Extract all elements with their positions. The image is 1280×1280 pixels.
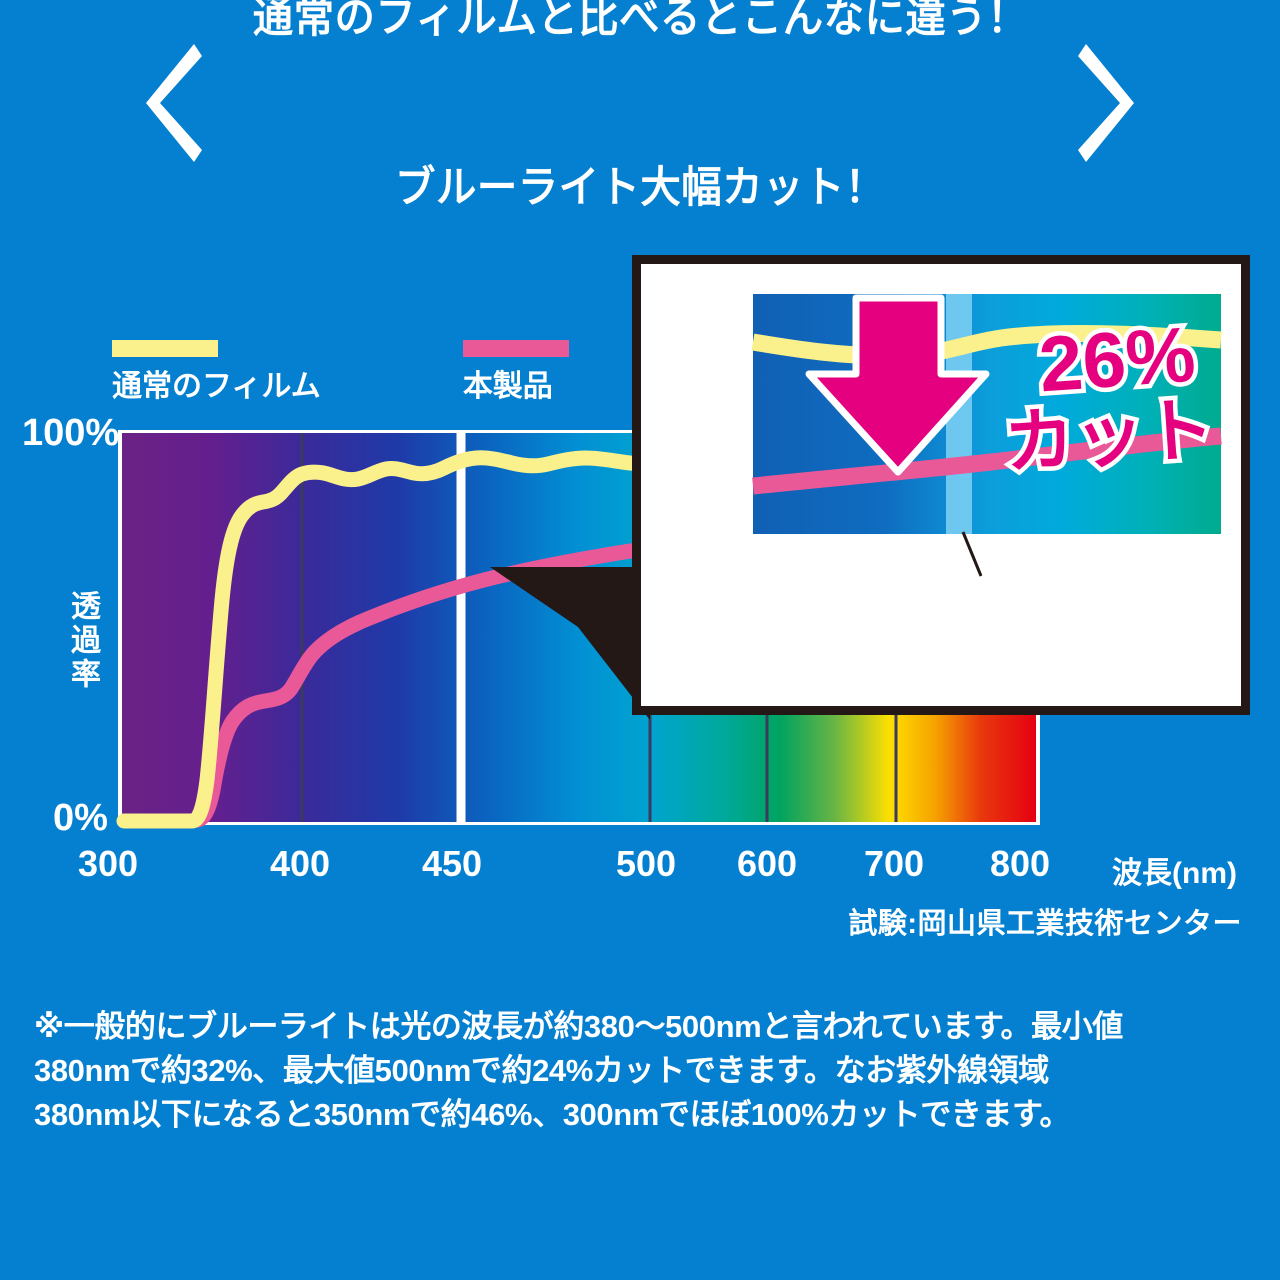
leader-line-icon [963,532,981,576]
x-tick-800: 800 [990,843,1050,885]
inset-detail-chart: 26% カット [641,264,1241,706]
footnote-text: ※一般的にブルーライトは光の波長が約380〜500nmと言われています。最小値 … [34,1005,1249,1137]
zoom-callout-box: 26% カット [632,255,1250,715]
x-tick-500: 500 [616,843,676,885]
test-credit: 試験:岡山県工業技術センター [848,900,1242,942]
y-axis-min-label: 0% [53,797,108,840]
x-tick-700: 700 [864,843,924,885]
x-axis-title: 波長(nm) [1112,848,1237,892]
cut-label-headline: カット [1002,390,1217,482]
y-axis-max-label: 100% [22,412,119,455]
infographic-page: 通常のフィルムと比べるとこんなに違う！ ブルーライト大幅カット！ 通常のフィルム… [0,0,1280,1280]
x-tick-450: 450 [422,843,482,885]
x-tick-300: 300 [78,843,138,885]
x-tick-600: 600 [737,843,797,885]
y-axis-title: 透過率 [60,590,104,692]
x-tick-400: 400 [270,843,330,885]
